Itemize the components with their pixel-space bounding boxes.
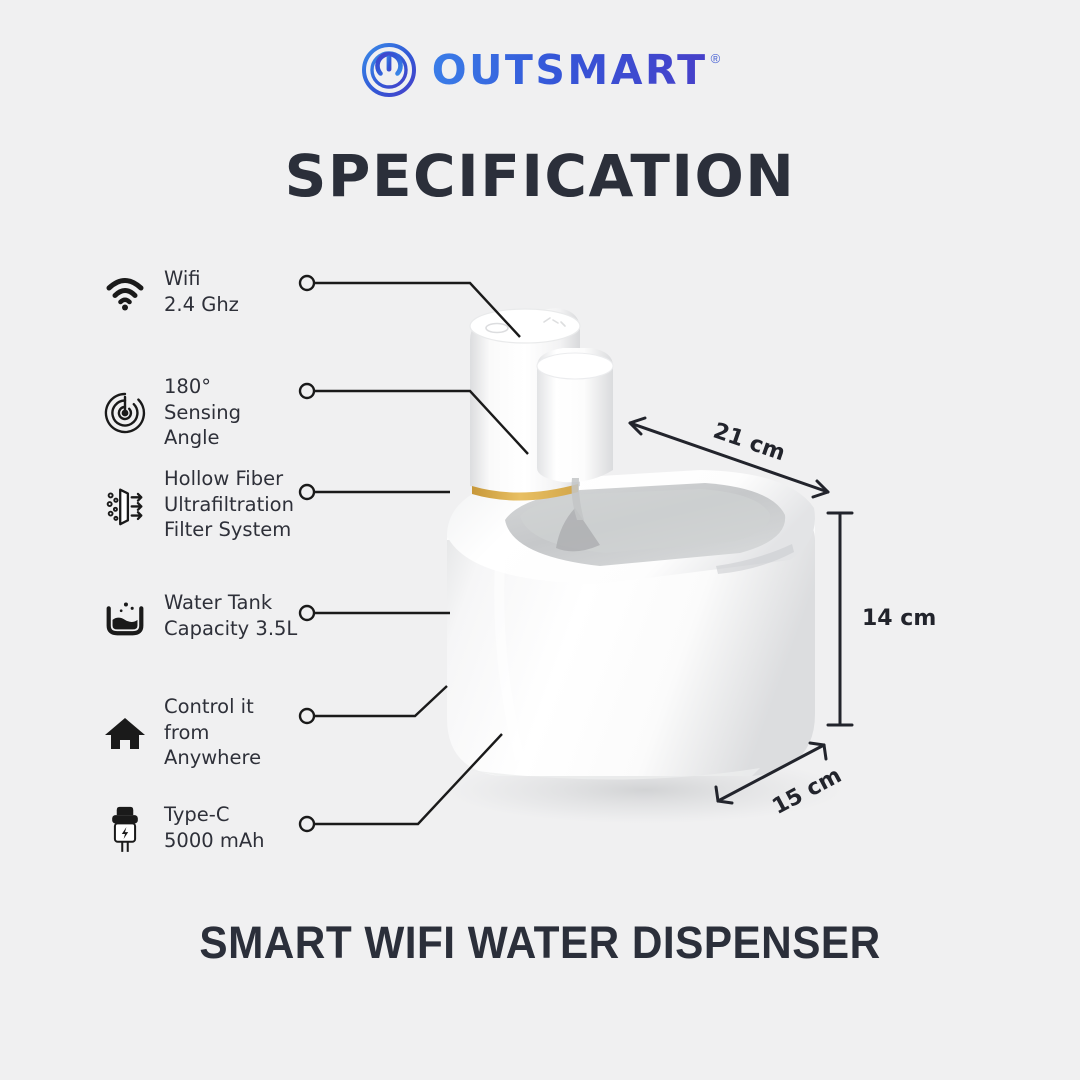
dimension-label-width: 21 cm [710,419,788,467]
water-tank-icon [100,591,150,641]
spec-item-water-tank: Water Tank Capacity 3.5L [100,590,300,641]
leader-dot-tank [300,606,314,620]
spec-item-battery: Type-C 5000 mAh [100,802,300,853]
spec-label-remote-control: Control it from Anywhere [164,694,300,771]
spec-item-sensing-angle: 180° Sensing Angle [100,374,300,451]
spec-item-remote-control: Control it from Anywhere [100,694,300,771]
infographic-page: OUTSMART ® SPECIFICATION [0,0,1080,1080]
leader-dot-filter [300,485,314,499]
leader-dot-control [300,709,314,723]
leader-dot-sensing [300,384,314,398]
brand-name: OUTSMART [432,50,708,91]
wifi-icon [100,267,150,317]
spec-label-filter: Hollow Fiber Ultrafiltration Filter Syst… [164,466,294,543]
power-button-icon [360,41,418,99]
brand-header: OUTSMART ® [0,38,1080,102]
filter-membrane-icon [100,480,150,530]
leader-dot-wifi [300,276,314,290]
dimension-label-height: 14 cm [862,606,936,631]
radar-sensor-icon [100,388,150,438]
registered-trademark-symbol: ® [711,52,721,65]
spec-label-battery: Type-C 5000 mAh [164,802,265,853]
spec-item-wifi: Wifi 2.4 Ghz [100,266,300,317]
spec-label-wifi: Wifi 2.4 Ghz [164,266,239,317]
spec-label-sensing-angle: 180° Sensing Angle [164,374,300,451]
product-title: SMART WIFI WATER DISPENSER [32,917,1047,969]
dimension-label-depth: 15 cm [768,763,845,820]
page-title: SPECIFICATION [0,142,1080,210]
usb-type-c-icon [100,803,150,853]
spec-label-water-tank: Water Tank Capacity 3.5L [164,590,297,641]
home-icon [100,708,150,758]
spec-item-filter: Hollow Fiber Ultrafiltration Filter Syst… [100,466,300,543]
leader-dot-typec [300,817,314,831]
